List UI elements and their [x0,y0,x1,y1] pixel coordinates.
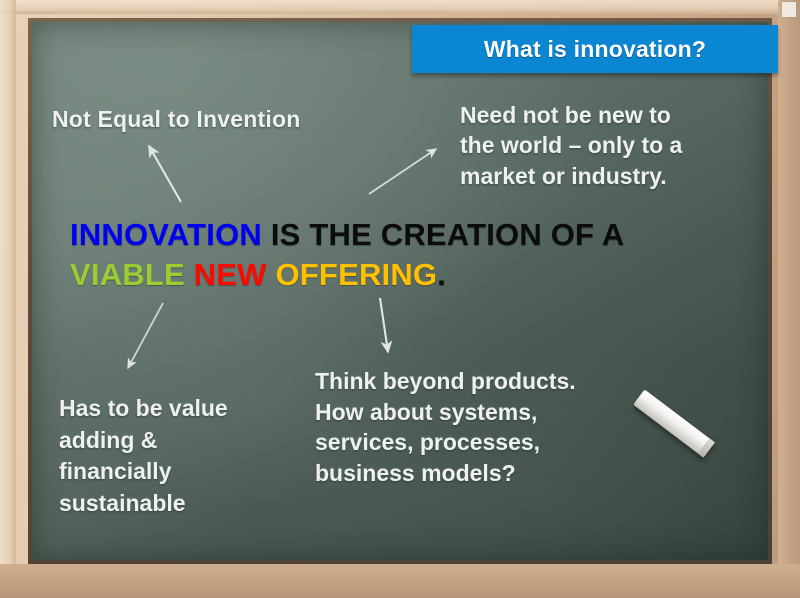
arrow-to-has-to-be-value [128,303,163,368]
corner-highlight-marker [782,2,796,17]
note-think-beyond-line2: How about systems, [315,397,625,428]
frame-bevel-right [778,0,800,598]
frame-bevel-top [0,0,800,14]
frame-bevel-left [0,0,16,598]
frame-bevel-bottom [0,564,800,598]
note-not-equal-invention: Not Equal to Invention [52,106,300,133]
definition-word-innovation: INNOVATION [70,217,262,252]
note-has-to-be-value-line1: Has to be value [59,393,289,425]
definition-word-new: NEW [194,257,267,292]
note-need-not-be-new-line2: the world – only to a [460,130,742,160]
note-need-not-be-new: Need not be new to the world – only to a… [460,100,742,191]
note-think-beyond-line1: Think beyond products. [315,366,625,397]
note-has-to-be-value-line4: sustainable [59,488,289,520]
title-banner-text: What is innovation? [484,36,706,63]
note-has-to-be-value-line2: adding & [59,425,289,457]
definition-statement: INNOVATION IS THE CREATION OF A VIABLE N… [70,215,690,294]
note-has-to-be-value-line3: financially [59,456,289,488]
chalk-stick [633,389,715,457]
definition-connector: IS THE CREATION OF A [262,217,623,252]
note-need-not-be-new-line3: market or industry. [460,161,742,191]
title-banner: What is innovation? [412,25,778,73]
arrow-to-think-beyond [380,298,388,352]
arrow-to-need-not-be-new [369,149,436,194]
definition-word-viable: VIABLE [70,257,185,292]
note-think-beyond: Think beyond products. How about systems… [315,366,625,488]
slide-canvas: What is innovation? Not Equal to Inventi… [0,0,800,598]
note-has-to-be-value: Has to be value adding & financially sus… [59,393,289,520]
note-not-equal-invention-text: Not Equal to Invention [52,106,300,132]
definition-word-offering: OFFERING [275,257,437,292]
note-think-beyond-line4: business models? [315,458,625,489]
definition-period: . [437,257,446,292]
arrow-to-not-equal-invention [149,146,181,202]
definition-space-1 [185,257,194,292]
note-need-not-be-new-line1: Need not be new to [460,100,742,130]
note-think-beyond-line3: services, processes, [315,427,625,458]
